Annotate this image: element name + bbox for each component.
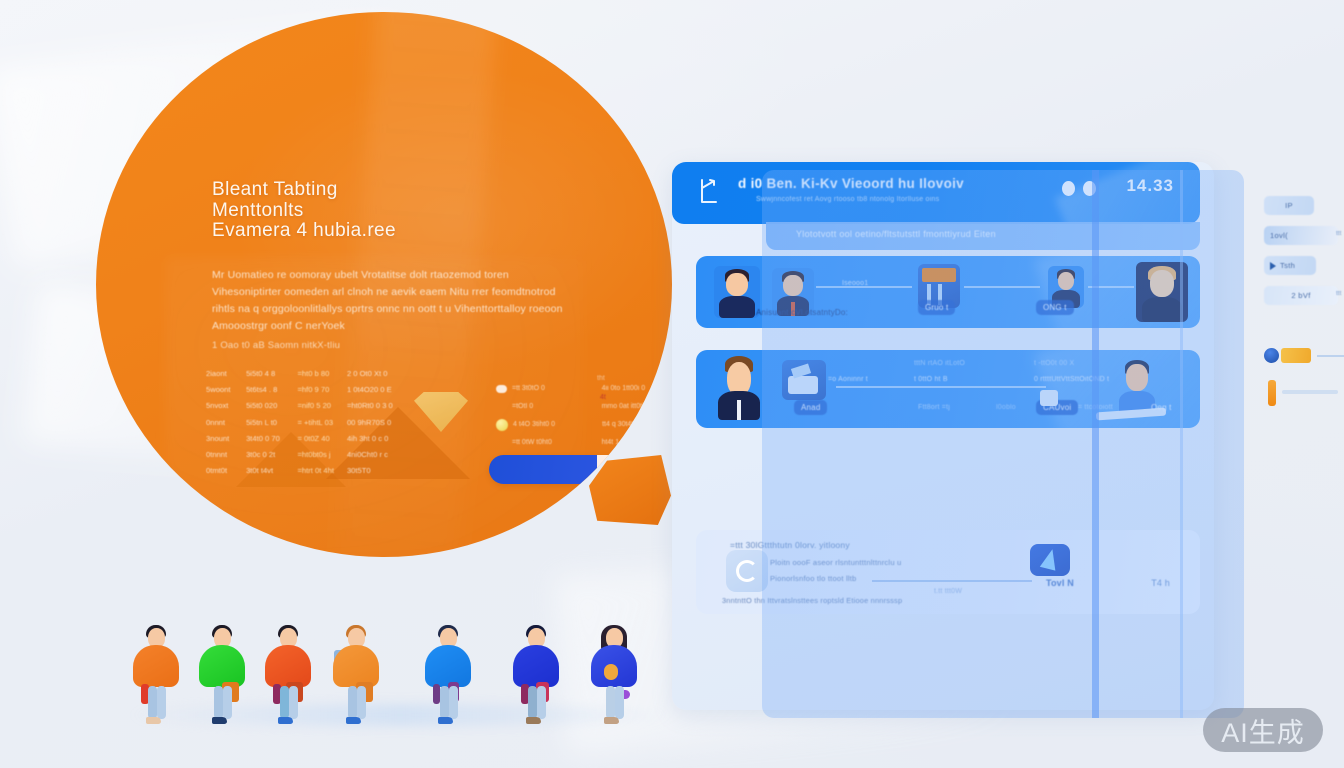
torso-shape — [265, 645, 311, 687]
leg-shape — [348, 686, 357, 719]
card-process[interactable]: =ttt 30lGttthtutn 0lorv. yitloony Ploitn… — [696, 530, 1200, 614]
status-dot-icon — [1062, 181, 1075, 196]
card-label: Anisuant cVl.otsatntyDo: — [756, 308, 848, 317]
table-row: 5woont 5t6ts4 . 8 =hf0 9 70 1 0t4O20 0 E — [206, 382, 396, 398]
flow-connector — [816, 286, 912, 288]
header-metric: 14.33 — [1126, 176, 1174, 196]
person-figure — [194, 624, 250, 724]
table-cell: 0nnnt — [206, 419, 238, 427]
torso-shape — [199, 645, 245, 687]
card-microtext: 0 rttttUttVttSttOitOND t — [1034, 376, 1109, 383]
torso-shape — [133, 645, 179, 687]
leg-shape — [528, 686, 537, 719]
circle-note: 1 Oao t0 aB Saomn nitkX-tliu — [212, 340, 340, 351]
progress-segment-primary — [489, 455, 597, 484]
leg-shape — [280, 686, 289, 719]
table-cell: 30t5T0 — [347, 467, 396, 475]
sidebar-pill-label: 2 bVf — [1291, 291, 1310, 300]
ring-shape — [736, 560, 758, 582]
card-microtext: t 0ttO ht B — [914, 376, 948, 383]
circle-tiny-mark: tht — [597, 375, 605, 382]
sidebar-text: ttt — [1336, 230, 1341, 237]
card-badge[interactable]: Anad — [794, 400, 827, 415]
person-figure — [128, 624, 184, 724]
card-badge[interactable]: Oeg t — [1144, 400, 1179, 415]
circle-body-line: Vihesoniptirter oomeden arl clnoh ne aev… — [212, 284, 592, 301]
torso-shape — [425, 645, 471, 687]
circle-body-text: Mr Uomatieo re oomoray ubelt Vrotatitse … — [212, 267, 592, 335]
table-cell: =ht0bt0s j — [297, 451, 339, 459]
sidebar-orange-indicator — [1268, 380, 1276, 406]
leg-shape — [537, 686, 546, 719]
body-shape — [1142, 297, 1183, 322]
panel-tabstrip[interactable]: Ylototvott ool oetino/fltstutsttl fmontt… — [766, 222, 1200, 250]
table-row: 0tmt0t 3t0t t4vt =htrt 0t 4ht 30t5T0 — [206, 463, 396, 479]
table-cell: =ht0Rt0 0 3 0 — [347, 402, 396, 410]
flow-connector — [964, 286, 1040, 288]
status-dot-icon — [1083, 181, 1096, 196]
torso-shape — [513, 645, 559, 687]
shoe-shape — [146, 717, 161, 724]
table-cell: = +tihtL 03 — [297, 419, 339, 427]
table-cell: 5i5t0 4 8 — [246, 370, 289, 378]
table-cell: 3t0c 0 2t — [246, 451, 289, 459]
legend-value: mmo 0at itt0tiha 0 — [602, 403, 672, 411]
circle-title-line: Menttonlts — [212, 201, 542, 222]
table-row: 3nount 3t4t0 0 70 = 0t0Z 40 4ih 3ht 0 c … — [206, 431, 396, 447]
head-shape — [1150, 270, 1174, 296]
table-cell: 4ih 3ht 0 c 0 — [347, 435, 396, 443]
flow-connector — [836, 386, 1046, 388]
leg-shape — [157, 686, 166, 719]
person-figure — [260, 624, 316, 724]
card-line: Ploitn oooF aseor rlsntuntttnlttnrclu u — [770, 558, 901, 567]
sidebar-pill-4[interactable]: 2 bVf — [1264, 286, 1338, 305]
head-shape — [727, 362, 752, 396]
circle-body-line: rihtls na q orggoloonlitlallys oprtrs on… — [212, 301, 592, 318]
held-item — [604, 664, 618, 680]
table-cell: =hf0 9 70 — [297, 386, 339, 394]
table-row: 0nnnt 5i5tn L t0 = +tihtL 03 00 9hR70S 0 — [206, 415, 396, 431]
sidebar-pill-label: Tsth — [1280, 261, 1295, 270]
table-cell: 1 0t4O20 0 E — [347, 386, 396, 394]
spark-shape — [1040, 547, 1060, 570]
tie-shape — [737, 400, 742, 420]
legend-item: =tOtI 0 mmo 0at itt0tiha 0 — [496, 398, 672, 416]
held-item — [433, 684, 440, 704]
card-title: =ttt 30lGttthtutn 0lorv. yitloony — [730, 540, 850, 550]
right-sidebar: IP 1ovl( Tsth 2 bVf ttt ttt — [1258, 190, 1344, 420]
shoe-shape — [212, 717, 227, 724]
header-status-dots[interactable] — [1062, 181, 1096, 196]
leg-shape — [223, 686, 232, 719]
panel-subtitle: Swwjnncofest ret Aovg rtooso tb8 ntonolg… — [756, 196, 939, 203]
head-shape — [726, 273, 747, 296]
sidebar-pill-label: IP — [1285, 201, 1293, 210]
sidebar-pill-2[interactable]: 1ovl( — [1264, 226, 1338, 245]
card-microtext: tttN rtAO itLotO — [914, 360, 965, 367]
legend-swatch-icon — [496, 403, 507, 411]
card-footer: 3nntnttO thn Ittvratslnsttees roptsld Et… — [722, 596, 902, 605]
table-cell: = 0t0Z 40 — [297, 435, 339, 443]
legend-swatch-icon — [496, 419, 508, 431]
circle-title-line: Evamera 4 hubia.ree — [212, 221, 512, 242]
sidebar-pill-1[interactable]: IP — [1264, 196, 1314, 215]
leg-shape — [606, 686, 615, 719]
table-cell: 3nount — [206, 435, 238, 443]
shoe-shape — [604, 717, 619, 724]
legend-label: =tt 3t0tO 0 — [512, 385, 597, 393]
legend-swatch-icon — [496, 439, 507, 447]
table-cell: 5woont — [206, 386, 238, 394]
avatar-woman-blonde — [1136, 262, 1188, 322]
leg-shape — [440, 686, 449, 719]
person-figure — [420, 624, 476, 724]
card-metric: T4 h — [1151, 578, 1170, 588]
pen-chip-icon — [1281, 348, 1311, 363]
circle-title-line: Bleant Tabting — [212, 180, 542, 201]
table-cell: 0tnnnt — [206, 451, 238, 459]
card-sub: t.tt ttt0W — [934, 588, 962, 595]
blue-dashboard-panel: d i0 Ben. Ki-Kv Vieoord hu Ilovoiv Swwjn… — [672, 162, 1214, 710]
circle-body-line: Amooostrgr oonf C nerYoek — [212, 318, 592, 335]
legend-label: =tOtI 0 — [512, 403, 597, 411]
circle-body-line: Mr Uomatieo re oomoray ubelt Vrotatitse … — [212, 267, 592, 284]
table-cell: =nif0 5 20 — [297, 402, 339, 410]
table-cell: 4ni0Cht0 r c — [347, 451, 396, 459]
card-microtext: t -ttO0t 00 X — [1034, 360, 1074, 367]
window-shape — [922, 268, 956, 282]
flow-connector — [872, 580, 1032, 582]
shoe-shape — [526, 717, 541, 724]
leg-shape — [214, 686, 223, 719]
avatar-card-photo — [782, 360, 826, 400]
person-figure — [586, 624, 642, 724]
table-cell: 5t6ts4 . 8 — [246, 386, 289, 394]
table-row: 0tnnnt 3t0c 0 2t =ht0bt0s j 4ni0Cht0 r c — [206, 447, 396, 463]
card-badge[interactable]: Gruo t — [918, 300, 955, 315]
ai-generated-watermark: AI生成 — [1203, 708, 1323, 752]
leg-shape — [289, 686, 298, 719]
body-shape — [719, 296, 755, 318]
table-row: 5nvoxt 5i5t0 020 =nif0 5 20 =ht0Rt0 0 3 … — [206, 398, 396, 414]
table-cell: 2iaont — [206, 370, 238, 378]
table-cell: 00 9hR70S 0 — [347, 419, 396, 427]
legend-item: =tt 0tW t0ht0 ht4t 1 ti 0tt0 — [496, 434, 672, 452]
table-cell: 5nvoxt — [206, 402, 238, 410]
table-cell: =htrt 0t 4ht — [297, 467, 339, 475]
head-shape — [1126, 364, 1147, 390]
illustration-canvas: Bleant Tabting Menttonlts Evamera 4 hubi… — [0, 0, 1344, 768]
legend-swatch-icon — [496, 385, 507, 393]
card-contacts[interactable]: Iseooo1 Anisuant cVl.otsatntyDo: Gruo t … — [696, 256, 1200, 328]
sidebar-progress-track[interactable] — [1282, 390, 1338, 394]
card-microtext: l0oblo — [996, 404, 1016, 411]
sidebar-track — [1317, 355, 1344, 357]
legend-value: tt4 q 30t4tEhr — [602, 421, 672, 429]
sidebar-text: ttt — [1336, 290, 1341, 297]
card-line: Pionorlsnfoo tlo ttoot lltb — [770, 574, 856, 583]
circle-title: Bleant Tabting Menttonlts Evamera 4 hubi… — [212, 180, 542, 242]
legend-label: =tt 0tW t0ht0 — [512, 439, 597, 447]
flow-connector — [1088, 286, 1134, 288]
circle-data-table: 2iaont 5i5t0 4 8 =ht0 b 80 2 0 Ot0 Xt 0 … — [206, 366, 396, 479]
legend-value: 4ii 0to 1tt00i 0 — [602, 385, 672, 393]
table-cell: 3t0t t4vt — [246, 467, 289, 475]
table-cell: 5i5tn L t0 — [246, 419, 289, 427]
table-row: 2iaont 5i5t0 4 8 =ht0 b 80 2 0 Ot0 Xt 0 — [206, 366, 396, 382]
table-cell: 3t4t0 0 70 — [246, 435, 289, 443]
shoe-shape — [346, 717, 361, 724]
panel-header: d i0 Ben. Ki-Kv Vieoord hu Ilovoiv Swwjn… — [672, 162, 1200, 224]
card-consultation[interactable]: Anad CAUvoi Oeg t =o Aoninnr t tttN rtAO… — [696, 350, 1200, 428]
panel-title: d i0 Ben. Ki-Kv Vieoord hu Ilovoiv — [738, 176, 964, 191]
sidebar-icon-row[interactable] — [1264, 348, 1344, 363]
table-cell: 5i5t0 020 — [246, 402, 289, 410]
table-cell: 0tmt0t — [206, 467, 238, 475]
leg-shape — [357, 686, 366, 719]
card-microtext: = ttcotoiott — [1078, 404, 1113, 411]
head-shape — [1058, 272, 1075, 290]
legend-item: =tt 3t0tO 0 4ii 0to 1tt00i 0 — [496, 380, 672, 398]
people-illustration-row — [120, 612, 670, 732]
torso-shape — [333, 645, 379, 687]
shoe-shape — [278, 717, 293, 724]
avatar-man-shout — [712, 352, 766, 420]
circle-legend: =tt 3t0tO 0 4ii 0to 1tt00i 0 =tOtI 0 mmo… — [496, 380, 672, 452]
table-cell: 2 0 Ot0 Xt 0 — [347, 370, 396, 378]
branch-arrow-icon — [696, 176, 724, 208]
card-microtext: Ftt8ort =tj — [918, 404, 950, 411]
leg-shape — [449, 686, 458, 719]
sidebar-pill-label: 1ovl( — [1270, 231, 1288, 240]
card-badge-label: Tovl N — [1046, 578, 1074, 588]
gear-chip-icon — [1040, 390, 1058, 406]
sidebar-pill-3[interactable]: Tsth — [1264, 256, 1316, 275]
refresh-ring-icon — [726, 550, 768, 592]
legend-value: ht4t 1 ti 0tt0 — [602, 439, 672, 447]
card-badge[interactable]: ONG t — [1036, 300, 1074, 315]
circle-tiny-mark: 4t — [600, 394, 606, 401]
watermark-label: AI生成 — [1221, 711, 1305, 750]
leg-shape — [148, 686, 157, 719]
leg-shape — [615, 686, 624, 719]
photo-shape — [788, 376, 818, 394]
flag-spark-icon — [1030, 544, 1070, 576]
person-figure — [328, 624, 384, 724]
orange-circle-panel: Bleant Tabting Menttonlts Evamera 4 hubi… — [96, 12, 672, 557]
card-label: =o Aoninnr t — [828, 376, 868, 383]
legend-item: 4 t4O 3tiht0 0 tt4 q 30t4tEhr — [496, 416, 672, 434]
head-shape — [783, 275, 802, 296]
shoe-shape — [438, 717, 453, 724]
tabstrip-label: Ylototvott ool oetino/fltstutsttl fmontt… — [796, 229, 996, 239]
legend-label: 4 t4O 3tiht0 0 — [513, 421, 597, 429]
table-cell: =ht0 b 80 — [297, 370, 339, 378]
person-figure — [508, 624, 564, 724]
user-circle-icon — [1264, 348, 1279, 363]
avatar-man-suit — [714, 266, 760, 318]
caret-right-icon — [1270, 262, 1276, 270]
